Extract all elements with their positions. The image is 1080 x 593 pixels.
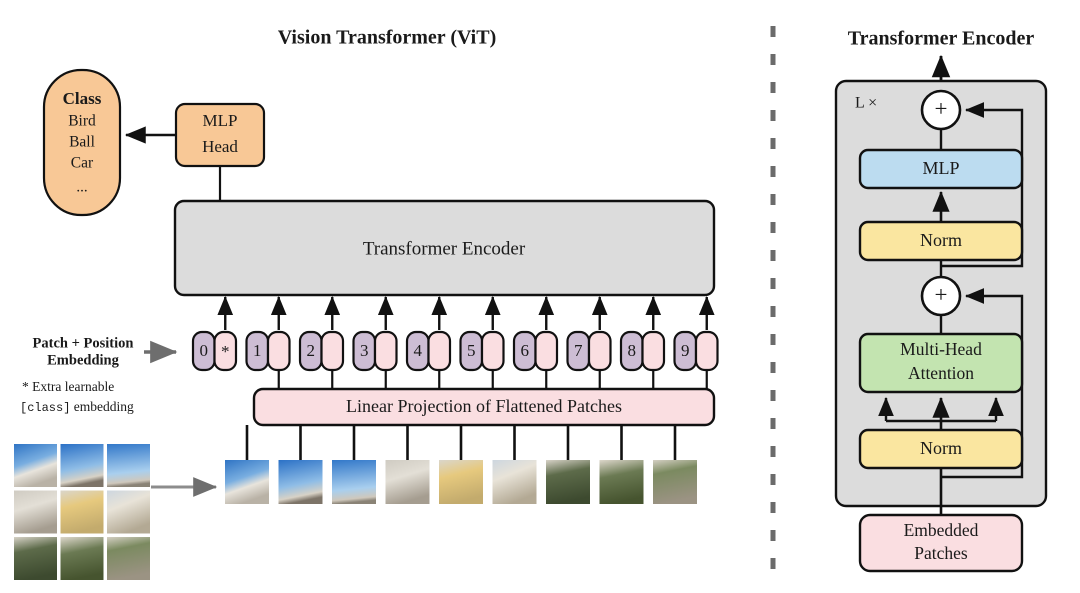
token-index-label-9: 9 bbox=[681, 341, 690, 360]
token-index-label-8: 8 bbox=[628, 341, 637, 360]
flattened-patch-2 bbox=[332, 460, 376, 504]
encoder-bar-label: Transformer Encoder bbox=[363, 238, 526, 259]
token-index-label-6: 6 bbox=[521, 341, 530, 360]
mlp-head-label-line1: MLP bbox=[203, 111, 238, 130]
token-value-pill-9 bbox=[696, 332, 718, 370]
token-value-pill-3 bbox=[375, 332, 397, 370]
source-patch-r1-c2 bbox=[107, 491, 150, 534]
residual-add-bottom-symbol: + bbox=[935, 282, 948, 307]
class-ellipsis: ... bbox=[76, 179, 87, 195]
mlp-head-label-line2: Head bbox=[202, 137, 238, 156]
flattened-patch-6 bbox=[546, 460, 590, 504]
mha-label-line1: Multi-Head bbox=[900, 339, 982, 359]
mlp-block-label: MLP bbox=[922, 158, 959, 178]
token-value-pill-2 bbox=[322, 332, 344, 370]
source-patch-r0-c1 bbox=[61, 444, 104, 487]
mha-label-line2: Attention bbox=[908, 363, 974, 383]
class-heading: Class bbox=[63, 89, 102, 108]
embedding-note-line1: * Extra learnable bbox=[22, 379, 114, 394]
token-value-pill-4 bbox=[429, 332, 451, 370]
embedding-note-text-a: Extra learnable bbox=[32, 379, 114, 394]
flattened-patch-5 bbox=[493, 460, 537, 504]
repeat-label: L × bbox=[855, 95, 877, 112]
patch-strip bbox=[225, 425, 697, 504]
embedding-note-code: [class] bbox=[20, 401, 70, 415]
source-patch-r2-c0 bbox=[14, 537, 57, 580]
flattened-patch-1 bbox=[279, 460, 323, 504]
embedded-patches-label-line2: Patches bbox=[914, 543, 968, 563]
flattened-patch-8 bbox=[653, 460, 697, 504]
token-value-pill-5 bbox=[482, 332, 504, 370]
embedding-label-line2: Embedding bbox=[47, 352, 119, 368]
class-item-bird: Bird bbox=[68, 113, 96, 130]
token-index-label-1: 1 bbox=[253, 341, 262, 360]
token-row: 0*123456789 bbox=[193, 297, 718, 389]
source-patch-r0-c0 bbox=[14, 444, 57, 487]
source-patch-r2-c2 bbox=[107, 537, 150, 580]
linear-projection-label: Linear Projection of Flattened Patches bbox=[346, 396, 622, 416]
token-index-label-2: 2 bbox=[307, 341, 316, 360]
token-index-label-0: 0 bbox=[200, 341, 209, 360]
token-value-pill-7 bbox=[589, 332, 611, 370]
source-patch-r2-c1 bbox=[61, 537, 104, 580]
source-image-grid bbox=[14, 444, 150, 580]
embedding-label-line1: Patch + Position bbox=[33, 335, 134, 351]
token-value-pill-6 bbox=[536, 332, 558, 370]
token-value-pill-1 bbox=[268, 332, 290, 370]
source-patch-r0-c2 bbox=[107, 444, 150, 487]
flattened-patch-3 bbox=[386, 460, 430, 504]
right-panel-title: Transformer Encoder bbox=[848, 28, 1035, 50]
left-panel-title: Vision Transformer (ViT) bbox=[278, 27, 497, 49]
embedding-note-line2: [class] embedding bbox=[20, 399, 134, 415]
figure-canvas: Vision Transformer (ViT) Class Bird Ball… bbox=[0, 0, 1080, 593]
norm-bottom-label: Norm bbox=[920, 438, 962, 458]
embedding-note-text-b: embedding bbox=[74, 399, 134, 414]
residual-add-top-symbol: + bbox=[935, 96, 948, 121]
class-item-ball: Ball bbox=[69, 134, 95, 151]
embedded-patches-label-line1: Embedded bbox=[904, 520, 979, 540]
flattened-patch-0 bbox=[225, 460, 269, 504]
token-index-label-4: 4 bbox=[414, 341, 423, 360]
token-index-label-5: 5 bbox=[467, 341, 476, 360]
token-index-label-7: 7 bbox=[574, 341, 583, 360]
flattened-patch-7 bbox=[600, 460, 644, 504]
token-value-pill-8 bbox=[643, 332, 665, 370]
source-patch-r1-c0 bbox=[14, 491, 57, 534]
norm-top-label: Norm bbox=[920, 230, 962, 250]
class-token-star: * bbox=[221, 342, 230, 361]
class-item-car: Car bbox=[71, 155, 94, 172]
flattened-patch-4 bbox=[439, 460, 483, 504]
source-patch-r1-c1 bbox=[61, 491, 104, 534]
token-index-label-3: 3 bbox=[360, 341, 369, 360]
